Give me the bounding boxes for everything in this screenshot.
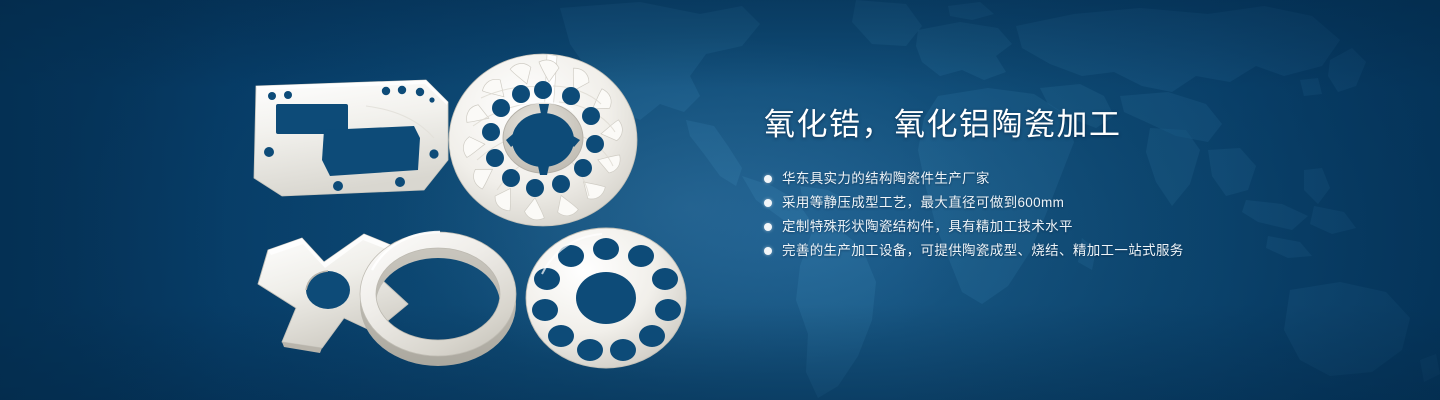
page-title: 氧化锆，氧化铝陶瓷加工: [764, 104, 1384, 146]
list-item: 定制特殊形状陶瓷结构件，具有精加工技术水平: [764, 216, 1384, 237]
banner-copy: 氧化锆，氧化铝陶瓷加工 华东具实力的结构陶瓷件生产厂家 采用等静压成型工艺，最大…: [764, 104, 1384, 264]
ceramic-ring: [348, 222, 528, 374]
ceramic-impeller: [443, 48, 643, 228]
product-photo-collage: [0, 0, 740, 400]
list-item: 华东具实力的结构陶瓷件生产厂家: [764, 168, 1384, 189]
list-item-label: 采用等静压成型工艺，最大直径可做到600mm: [782, 192, 1064, 213]
bullet-dot-icon: [764, 199, 772, 207]
bullet-dot-icon: [764, 175, 772, 183]
list-item-label: 定制特殊形状陶瓷结构件，具有精加工技术水平: [782, 216, 1073, 237]
bullet-dot-icon: [764, 223, 772, 231]
bullet-dot-icon: [764, 247, 772, 255]
ceramic-machined-plate: [248, 72, 458, 202]
list-item-label: 华东具实力的结构陶瓷件生产厂家: [782, 168, 990, 189]
ceramic-perforated-disc: [516, 222, 696, 374]
promo-banner: 氧化锆，氧化铝陶瓷加工 华东具实力的结构陶瓷件生产厂家 采用等静压成型工艺，最大…: [0, 0, 1440, 400]
list-item: 采用等静压成型工艺，最大直径可做到600mm: [764, 192, 1384, 213]
list-item: 完善的生产加工设备，可提供陶瓷成型、烧结、精加工一站式服务: [764, 240, 1384, 261]
list-item-label: 完善的生产加工设备，可提供陶瓷成型、烧结、精加工一站式服务: [782, 240, 1184, 261]
feature-list: 华东具实力的结构陶瓷件生产厂家 采用等静压成型工艺，最大直径可做到600mm 定…: [764, 168, 1384, 261]
